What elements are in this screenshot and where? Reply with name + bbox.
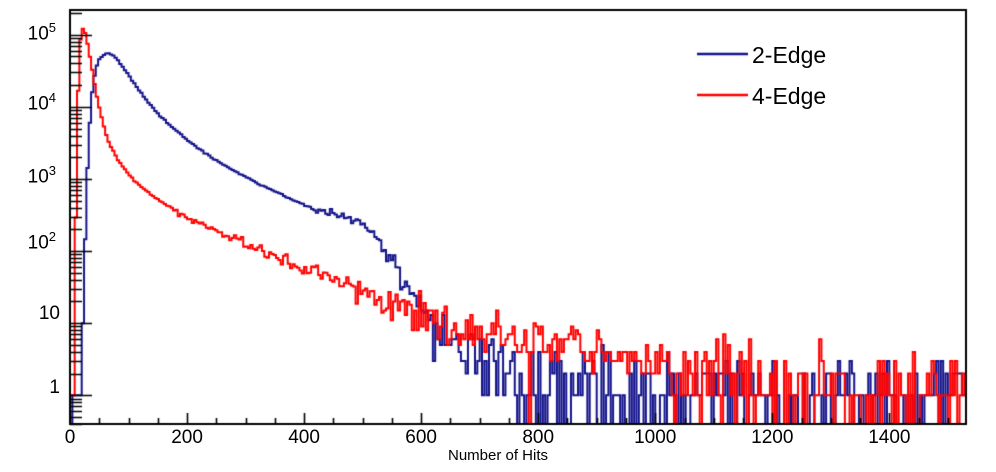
figure-root: 105 104 103 102 10 1 0 200 400 600 800 1… bbox=[0, 0, 996, 472]
x-tick-label-1200: 1200 bbox=[742, 427, 802, 449]
x-tick-label-1400: 1400 bbox=[859, 427, 919, 449]
x-tick-label-200: 200 bbox=[157, 427, 217, 449]
y-tick-label-1e5: 105 bbox=[8, 20, 56, 45]
x-tick-label-1000: 1000 bbox=[625, 427, 685, 449]
x-tick-label-0: 0 bbox=[40, 427, 100, 449]
y-tick-label-1: 1 bbox=[8, 377, 60, 399]
legend-label-4-edge: 4-Edge bbox=[752, 83, 826, 110]
y-tick-label-1e2: 102 bbox=[8, 229, 56, 254]
x-axis-title: Number of Hits bbox=[0, 447, 996, 464]
y-tick-label-1e3: 103 bbox=[8, 163, 56, 188]
y-tick-label-1e4: 104 bbox=[8, 90, 56, 115]
plot-canvas bbox=[0, 0, 996, 472]
y-tick-label-10: 10 bbox=[8, 303, 60, 325]
x-tick-label-400: 400 bbox=[274, 427, 334, 449]
legend-label-2-edge: 2-Edge bbox=[752, 42, 826, 69]
x-tick-label-800: 800 bbox=[508, 427, 568, 449]
x-tick-label-600: 600 bbox=[391, 427, 451, 449]
